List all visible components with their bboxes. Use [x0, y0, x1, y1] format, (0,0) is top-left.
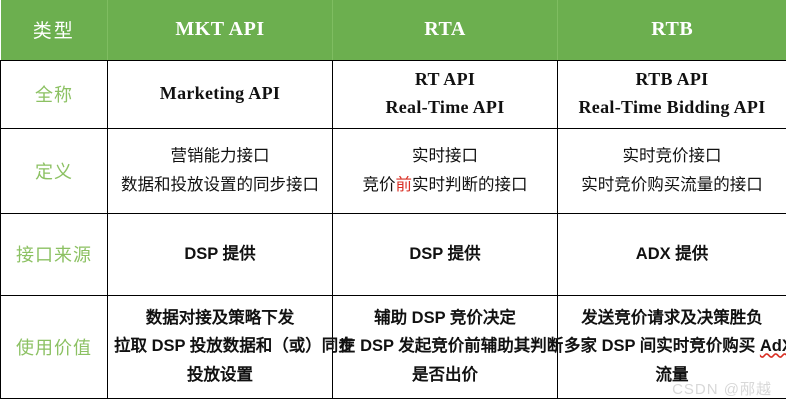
header-row: 类型 MKT API RTA RTB [1, 0, 786, 60]
cell-line: 投放设置 [114, 361, 326, 389]
cell-line: ADX 提供 [564, 240, 780, 268]
header-cell-type: 类型 [1, 0, 108, 60]
cell-line: 实时竞价接口 [564, 142, 780, 170]
cell-definition-mkt: 营销能力接口 数据和投放设置的同步接口 [108, 128, 333, 213]
header-cell-mkt-api: MKT API [108, 0, 333, 60]
cell-line: 营销能力接口 [114, 142, 326, 170]
table-row-source: 接口来源 DSP 提供 DSP 提供 ADX 提供 [1, 213, 786, 295]
table-body: 全称 Marketing API RT API Real-Time API RT… [1, 60, 786, 398]
cell-fullname-rtb: RTB API Real-Time Bidding API [558, 60, 786, 128]
cell-line: RTB API [564, 66, 780, 94]
cell-source-mkt: DSP 提供 [108, 213, 333, 295]
table-container: 类型 MKT API RTA RTB 全称 Marketing API RT A… [0, 0, 786, 405]
cell-line: 实时接口 [339, 142, 551, 170]
cell-line: RT API [339, 66, 551, 94]
cell-fullname-mkt: Marketing API [108, 60, 333, 128]
cell-usage-mkt: 数据对接及策略下发 拉取 DSP 投放数据和（或）同步 投放设置 [108, 295, 333, 398]
table-row-fullname: 全称 Marketing API RT API Real-Time API RT… [1, 60, 786, 128]
cell-usage-rta: 辅助 DSP 竞价决定 在 DSP 发起竞价前辅助其判断 是否出价 [333, 295, 558, 398]
cell-line: 数据和投放设置的同步接口 [114, 171, 326, 199]
cell-line: 数据对接及策略下发 [114, 304, 326, 332]
cell-line: 在 DSP 发起竞价前辅助其判断 [339, 332, 551, 360]
header-cell-rta: RTA [333, 0, 558, 60]
row-label-definition: 定义 [1, 128, 108, 213]
cell-source-rtb: ADX 提供 [558, 213, 786, 295]
row-label-usage-value: 使用价值 [1, 295, 108, 398]
cell-line-highlighted: 竞价前实时判断的接口 [339, 171, 551, 199]
cell-line: 发送竞价请求及决策胜负 [564, 304, 780, 332]
cell-source-rta: DSP 提供 [333, 213, 558, 295]
cell-line: DSP 提供 [339, 240, 551, 268]
cell-definition-rtb: 实时竞价接口 实时竞价购买流量的接口 [558, 128, 786, 213]
table-row-definition: 定义 营销能力接口 数据和投放设置的同步接口 实时接口 竞价前实时判断的接口 实… [1, 128, 786, 213]
header-cell-rtb: RTB [558, 0, 786, 60]
cell-line: DSP 提供 [114, 240, 326, 268]
cell-line: 拉取 DSP 投放数据和（或）同步 [114, 332, 326, 360]
cell-definition-rta: 实时接口 竞价前实时判断的接口 [333, 128, 558, 213]
api-comparison-table: 类型 MKT API RTA RTB 全称 Marketing API RT A… [0, 0, 786, 399]
row-label-source: 接口来源 [1, 213, 108, 295]
cell-line: Real-Time Bidding API [564, 94, 780, 122]
cell-line: 实时竞价购买流量的接口 [564, 171, 780, 199]
text-segment: 竞价 [363, 176, 396, 194]
cell-line: 辅助 DSP 竞价决定 [339, 304, 551, 332]
cell-line: Marketing API [114, 80, 326, 108]
text-segment: 实时判断的接口 [412, 176, 528, 194]
cell-line-with-spellcheck: 多家 DSP 间实时竞价购买 AdX [564, 332, 780, 360]
cell-usage-rtb: 发送竞价请求及决策胜负 多家 DSP 间实时竞价购买 AdX 流量 [558, 295, 786, 398]
row-label-fullname: 全称 [1, 60, 108, 128]
table-row-usage-value: 使用价值 数据对接及策略下发 拉取 DSP 投放数据和（或）同步 投放设置 辅助… [1, 295, 786, 398]
cell-line: 是否出价 [339, 361, 551, 389]
table-header: 类型 MKT API RTA RTB [1, 0, 786, 60]
highlighted-character: 前 [396, 176, 413, 194]
text-segment: 多家 DSP 间实时竞价购买 [564, 337, 760, 355]
cell-line: 流量 [564, 361, 780, 389]
cell-line: Real-Time API [339, 94, 551, 122]
spellcheck-underlined-word: AdX [760, 337, 786, 355]
cell-fullname-rta: RT API Real-Time API [333, 60, 558, 128]
